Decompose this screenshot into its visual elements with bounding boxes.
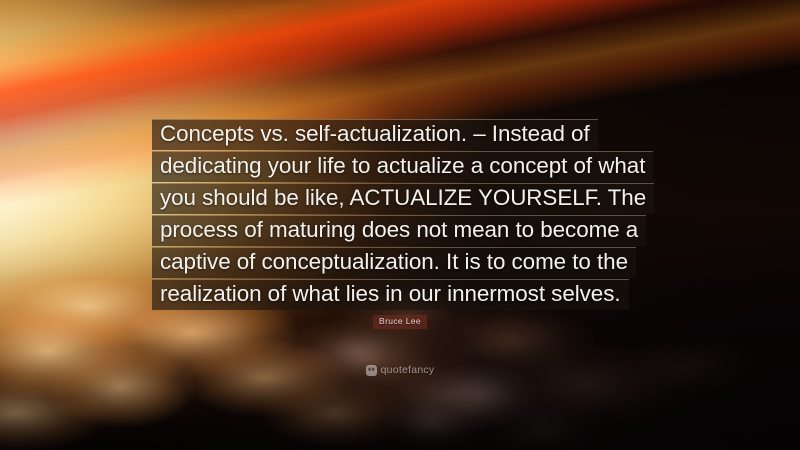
quote-line: you should be like, ACTUALIZE YOURSELF. …	[152, 183, 654, 214]
quote-line: process of maturing does not mean to bec…	[152, 215, 646, 246]
quote-line: dedicating your life to actualize a conc…	[152, 151, 653, 182]
quote-marks-icon	[366, 365, 377, 376]
watermark-label: quotefancy	[381, 364, 435, 376]
author-attribution: Bruce Lee	[0, 311, 800, 329]
quote-line: Concepts vs. self-actualization. – Inste…	[152, 119, 598, 150]
quote-text-block: Concepts vs. self-actualization. – Inste…	[152, 119, 672, 311]
quote-line: captive of conceptualization. It is to c…	[152, 247, 636, 278]
watermark: quotefancy	[0, 364, 800, 376]
quote-poster: Concepts vs. self-actualization. – Inste…	[0, 0, 800, 450]
quote-line: realization of what lies in our innermos…	[152, 279, 629, 310]
author-name: Bruce Lee	[373, 315, 427, 329]
